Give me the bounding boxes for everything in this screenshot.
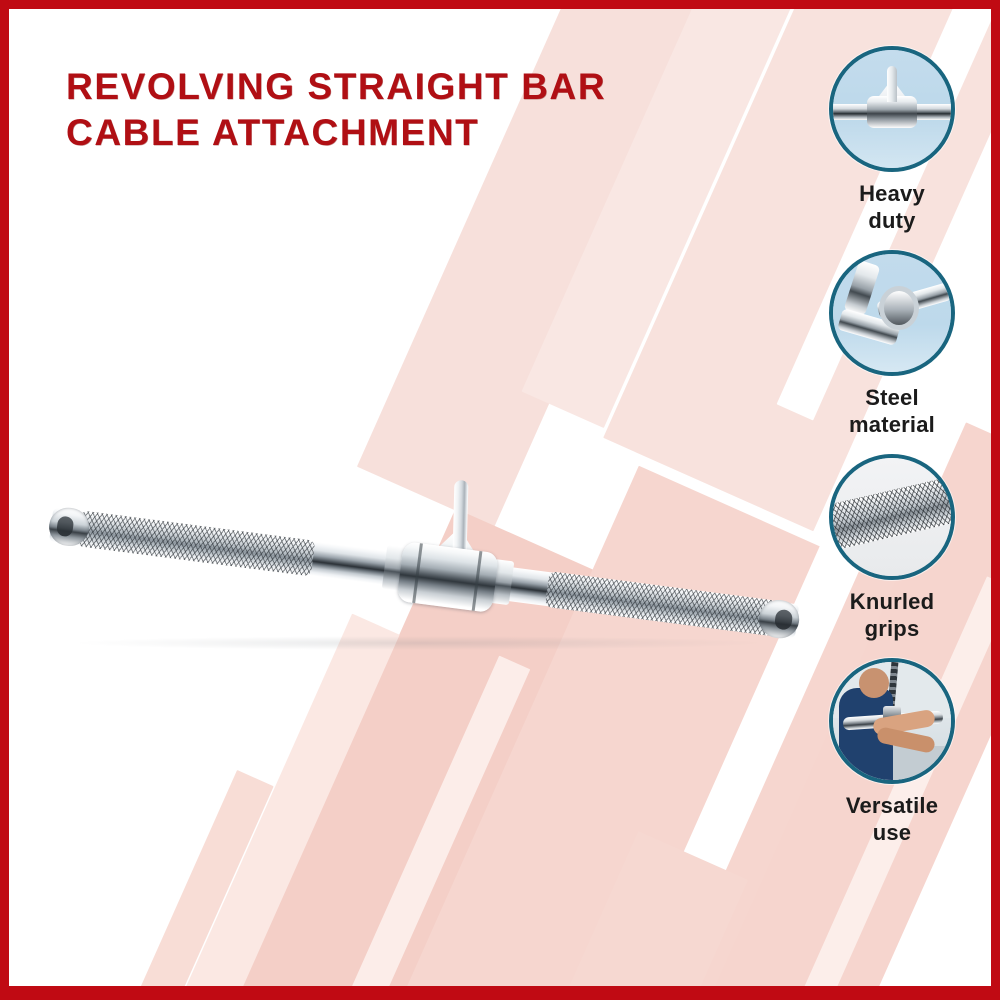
feature-versatile-use: Versatile use <box>802 658 982 846</box>
feature-thumbnail-knurled-grips <box>829 454 955 580</box>
feature-label-line-1: Steel <box>802 384 982 411</box>
swivel-collar <box>396 541 499 613</box>
feature-knurled-grips: Knurled grips <box>802 454 982 642</box>
knurled-grip-left <box>77 510 316 576</box>
border-frame-right <box>991 0 1000 1000</box>
feature-heavy-duty: Heavy duty <box>802 46 982 234</box>
swivel-mechanism-closeup-icon <box>833 50 951 168</box>
person-using-cable-bar-icon <box>833 662 951 780</box>
feature-thumbnail-steel-material <box>829 250 955 376</box>
feature-callout-list: Heavy duty Steel material <box>802 46 982 862</box>
knurled-texture-closeup-icon <box>833 458 951 576</box>
border-frame-left <box>0 0 9 1000</box>
feature-label-line-1: Heavy <box>802 180 982 207</box>
feature-thumbnail-versatile-use <box>829 658 955 784</box>
product-hero-image <box>30 430 820 720</box>
swivel-attachment-tab <box>453 480 469 556</box>
knurled-grip-right <box>545 571 778 636</box>
feature-steel-material: Steel material <box>802 250 982 438</box>
feature-thumbnail-heavy-duty <box>829 46 955 172</box>
border-frame-bottom <box>0 986 1000 1000</box>
feature-label-versatile-use: Versatile use <box>802 792 982 846</box>
feature-label-line-2: grips <box>802 615 982 642</box>
feature-label-line-2: duty <box>802 207 982 234</box>
feature-label-line-2: use <box>802 819 982 846</box>
feature-label-knurled-grips: Knurled grips <box>802 588 982 642</box>
feature-label-line-1: Versatile <box>802 792 982 819</box>
collar-ring <box>472 551 483 611</box>
title-line-1: REVOLVING STRAIGHT BAR <box>66 64 706 110</box>
page-title: REVOLVING STRAIGHT BAR CABLE ATTACHMENT <box>66 64 706 156</box>
feature-label-heavy-duty: Heavy duty <box>802 180 982 234</box>
feature-label-line-2: material <box>802 411 982 438</box>
steel-joint-closeup-icon <box>833 254 951 372</box>
product-marketing-image: REVOLVING STRAIGHT BAR CABLE ATTACHMENT <box>0 0 1000 1000</box>
feature-label-steel-material: Steel material <box>802 384 982 438</box>
border-frame-top <box>0 0 1000 9</box>
title-line-2: CABLE ATTACHMENT <box>66 110 706 156</box>
collar-ring <box>412 543 423 603</box>
feature-label-line-1: Knurled <box>802 588 982 615</box>
